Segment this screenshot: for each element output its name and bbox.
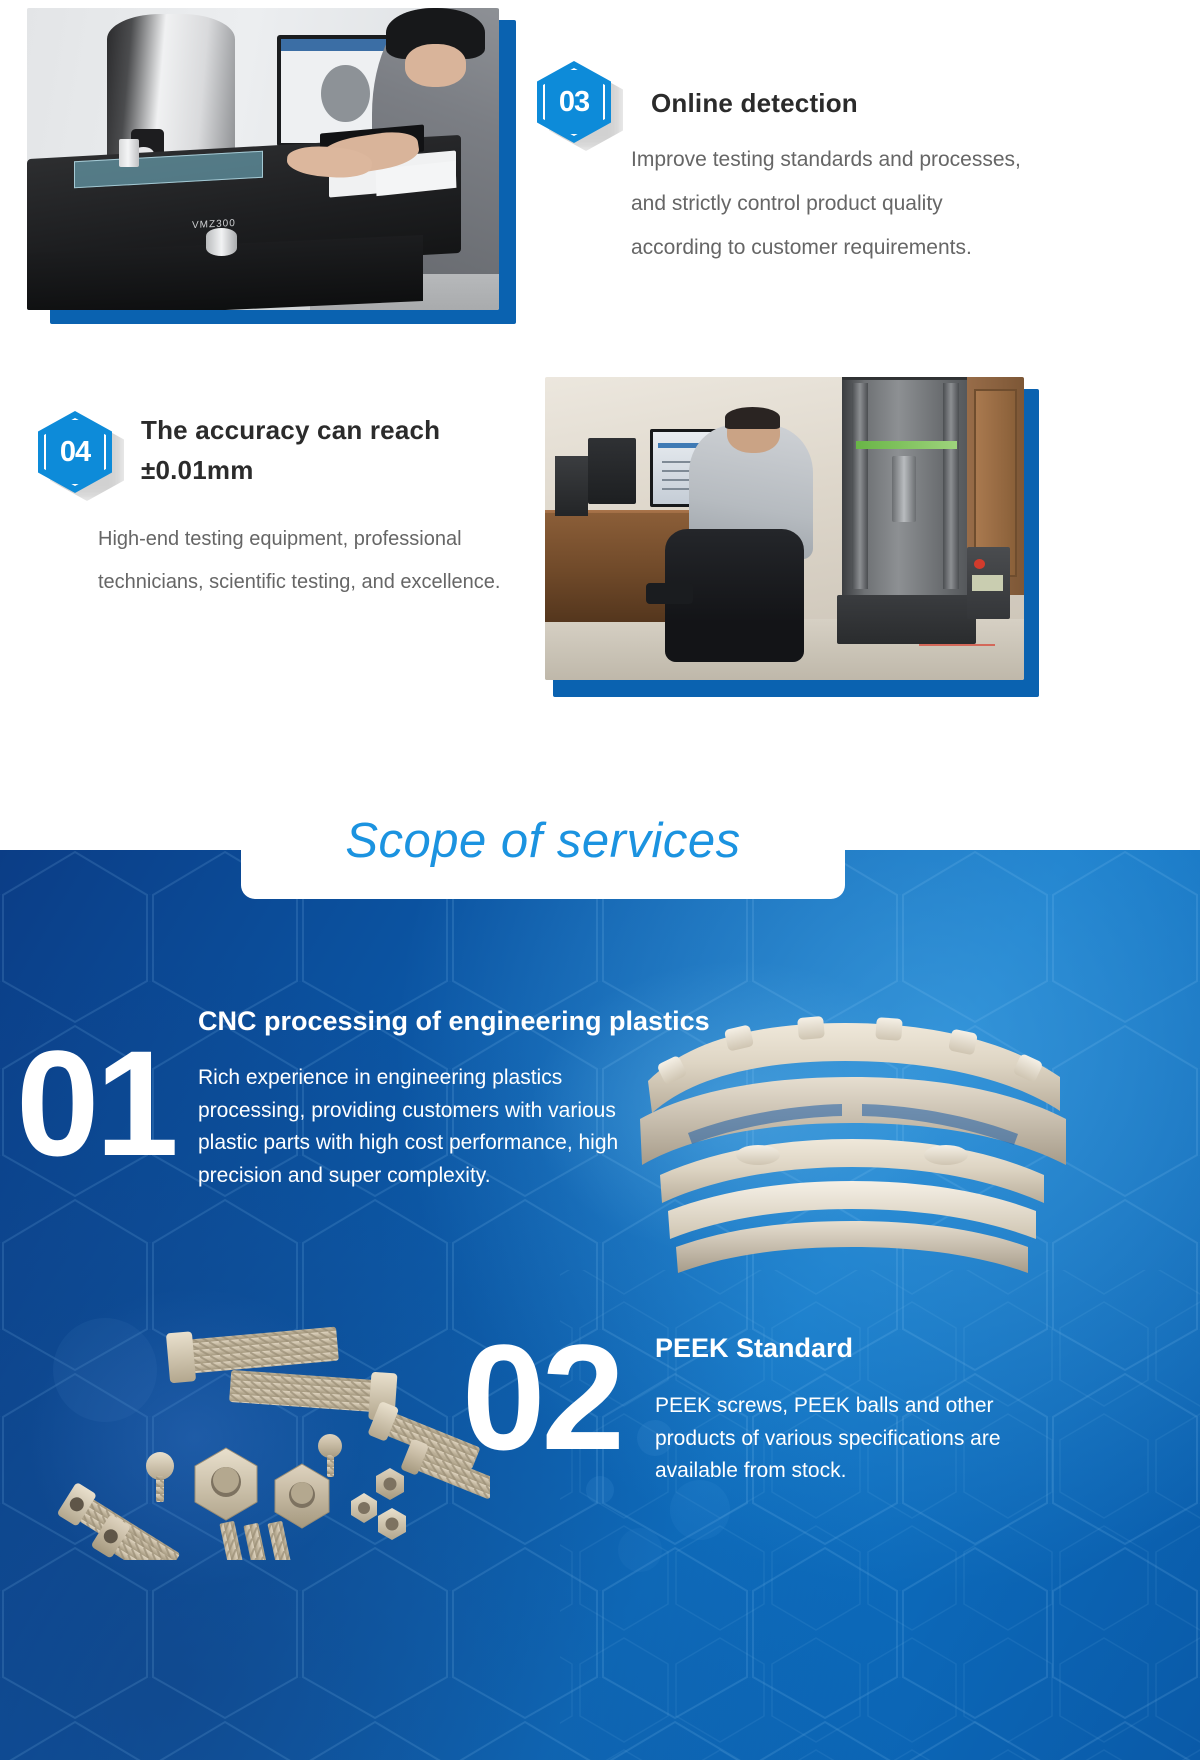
service-image-machined-peek-part <box>630 1015 1075 1285</box>
feature-photo-online-detection: VMZ300 <box>27 8 516 324</box>
feature-title-online-detection: Online detection <box>651 83 1071 123</box>
scope-of-services-card: Scope of services <box>241 782 845 899</box>
feature-number-03: 03 <box>537 61 611 143</box>
page-root: VMZ300 03 Online detection Improve testi… <box>0 0 1200 1760</box>
feature-title-accuracy: The accuracy can reach ±0.01mm <box>141 410 541 490</box>
feature-badge-04: 04 <box>38 411 112 493</box>
scope-of-services-heading: Scope of services <box>345 813 740 869</box>
photo-image-tensile-lab <box>545 377 1024 680</box>
service-body-cnc: Rich experience in engineering plastics … <box>198 1062 630 1192</box>
feature-photo-accuracy <box>545 377 1039 697</box>
service-body-peek-standard: PEEK screws, PEEK balls and other produc… <box>655 1390 1055 1488</box>
features-section: VMZ300 03 Online detection Improve testi… <box>0 0 1200 850</box>
feature-body-accuracy: High-end testing equipment, professional… <box>98 518 528 604</box>
photo-image-vmz300: VMZ300 <box>27 8 499 310</box>
feature-badge-03: 03 <box>537 61 611 143</box>
service-title-peek-standard: PEEK Standard <box>655 1331 1075 1365</box>
service-number-01: 01 <box>16 1028 175 1178</box>
service-image-peek-screws-nuts <box>30 1270 490 1560</box>
feature-number-04: 04 <box>38 411 112 493</box>
feature-body-online-detection: Improve testing standards and processes,… <box>631 138 1026 270</box>
